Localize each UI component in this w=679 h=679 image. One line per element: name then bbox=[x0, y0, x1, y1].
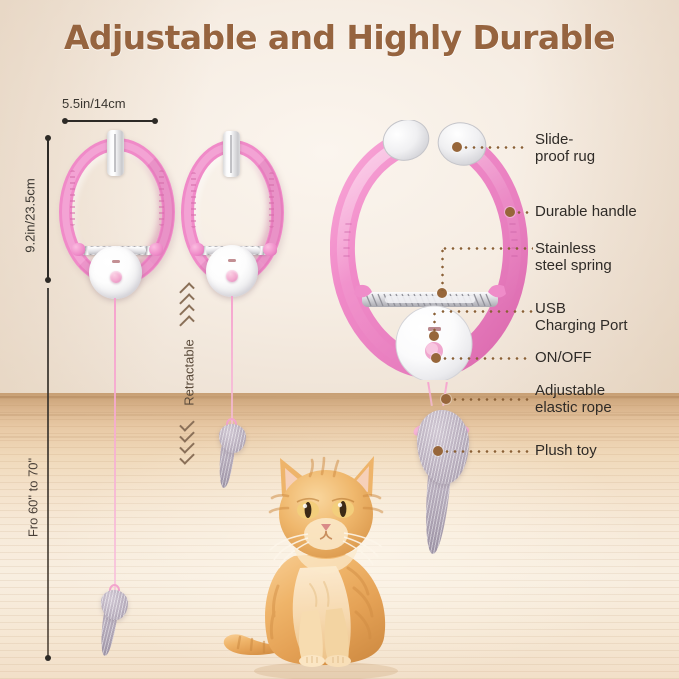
callout-line-on-off bbox=[441, 357, 531, 360]
cat-photo bbox=[222, 452, 422, 679]
callout-marker-elastic-rope bbox=[441, 394, 451, 404]
callout-line-slide-proof-rug bbox=[462, 146, 527, 149]
ring-top-mount bbox=[223, 131, 240, 177]
callout-on-off: ON/OFF bbox=[535, 349, 592, 366]
callout-line-elastic-rope bbox=[451, 398, 531, 401]
callout-line-spring-vertical bbox=[441, 247, 444, 291]
width-dimension-line bbox=[64, 120, 156, 122]
callout-marker-on-off bbox=[431, 353, 441, 363]
callout-marker-slide-proof-rug bbox=[452, 142, 462, 152]
callout-plush-toy: Plush toy bbox=[535, 442, 597, 459]
callout-slide-proof-rug: Slide- proof rug bbox=[535, 131, 595, 165]
ring-control-hub[interactable] bbox=[206, 245, 258, 297]
power-button[interactable] bbox=[226, 270, 238, 282]
elastic-rope bbox=[231, 296, 233, 424]
usb-port-icon bbox=[112, 260, 120, 263]
callout-marker-durable-handle bbox=[505, 207, 515, 217]
retractable-down-arrows bbox=[180, 420, 196, 464]
callout-marker-plush-toy bbox=[433, 446, 443, 456]
spring-anchor bbox=[71, 243, 85, 256]
ring-control-hub[interactable] bbox=[89, 246, 142, 299]
width-dimension-label: 5.5in/14cm bbox=[62, 96, 126, 111]
plush-toy-small bbox=[94, 590, 134, 656]
ring-grip-texture bbox=[159, 170, 164, 226]
height-dimension-label: 9.2in/23.5cm bbox=[23, 156, 38, 276]
stainless-steel-spring bbox=[354, 285, 506, 307]
ring-grip-texture bbox=[70, 170, 75, 226]
drop-dimension-label: Fro 60" to 70" bbox=[26, 443, 41, 553]
page-title: Adjustable and Highly Durable bbox=[0, 18, 679, 57]
toy-body bbox=[417, 410, 469, 484]
power-button[interactable] bbox=[110, 271, 122, 283]
retractable-label: Retractable bbox=[182, 318, 197, 428]
callout-usb-charging-port: USB Charging Port bbox=[535, 300, 628, 334]
spring-anchor bbox=[263, 243, 277, 256]
height-dimension-line bbox=[47, 138, 49, 280]
infographic-canvas: Adjustable and Highly Durable 5.5in/14cm… bbox=[0, 0, 679, 679]
toy-body bbox=[101, 590, 128, 620]
callout-stainless-spring: Stainless steel spring bbox=[535, 240, 612, 274]
callout-line-usb-vertical bbox=[433, 310, 436, 334]
callout-durable-handle: Durable handle bbox=[535, 203, 637, 220]
ring-grip-texture bbox=[191, 172, 196, 228]
spring-anchor bbox=[190, 243, 204, 256]
callout-line-durable-handle bbox=[515, 211, 533, 214]
elastic-rope bbox=[114, 298, 116, 590]
usb-port-icon bbox=[228, 259, 236, 262]
callout-line-spring-horizontal bbox=[441, 247, 533, 250]
callout-elastic-rope: Adjustable elastic rope bbox=[535, 382, 612, 416]
toy-body bbox=[219, 424, 246, 453]
callout-line-usb-port bbox=[439, 310, 533, 313]
ring-top-mount bbox=[107, 130, 124, 176]
cat-front-leg-left bbox=[299, 610, 323, 660]
ring-grip-texture bbox=[269, 172, 274, 228]
ring-grip-texture bbox=[344, 224, 517, 256]
callout-line-plush-toy bbox=[443, 450, 531, 453]
drop-dimension-line bbox=[47, 288, 49, 658]
spring-anchor bbox=[149, 243, 163, 256]
product-ring-main bbox=[330, 120, 530, 380]
